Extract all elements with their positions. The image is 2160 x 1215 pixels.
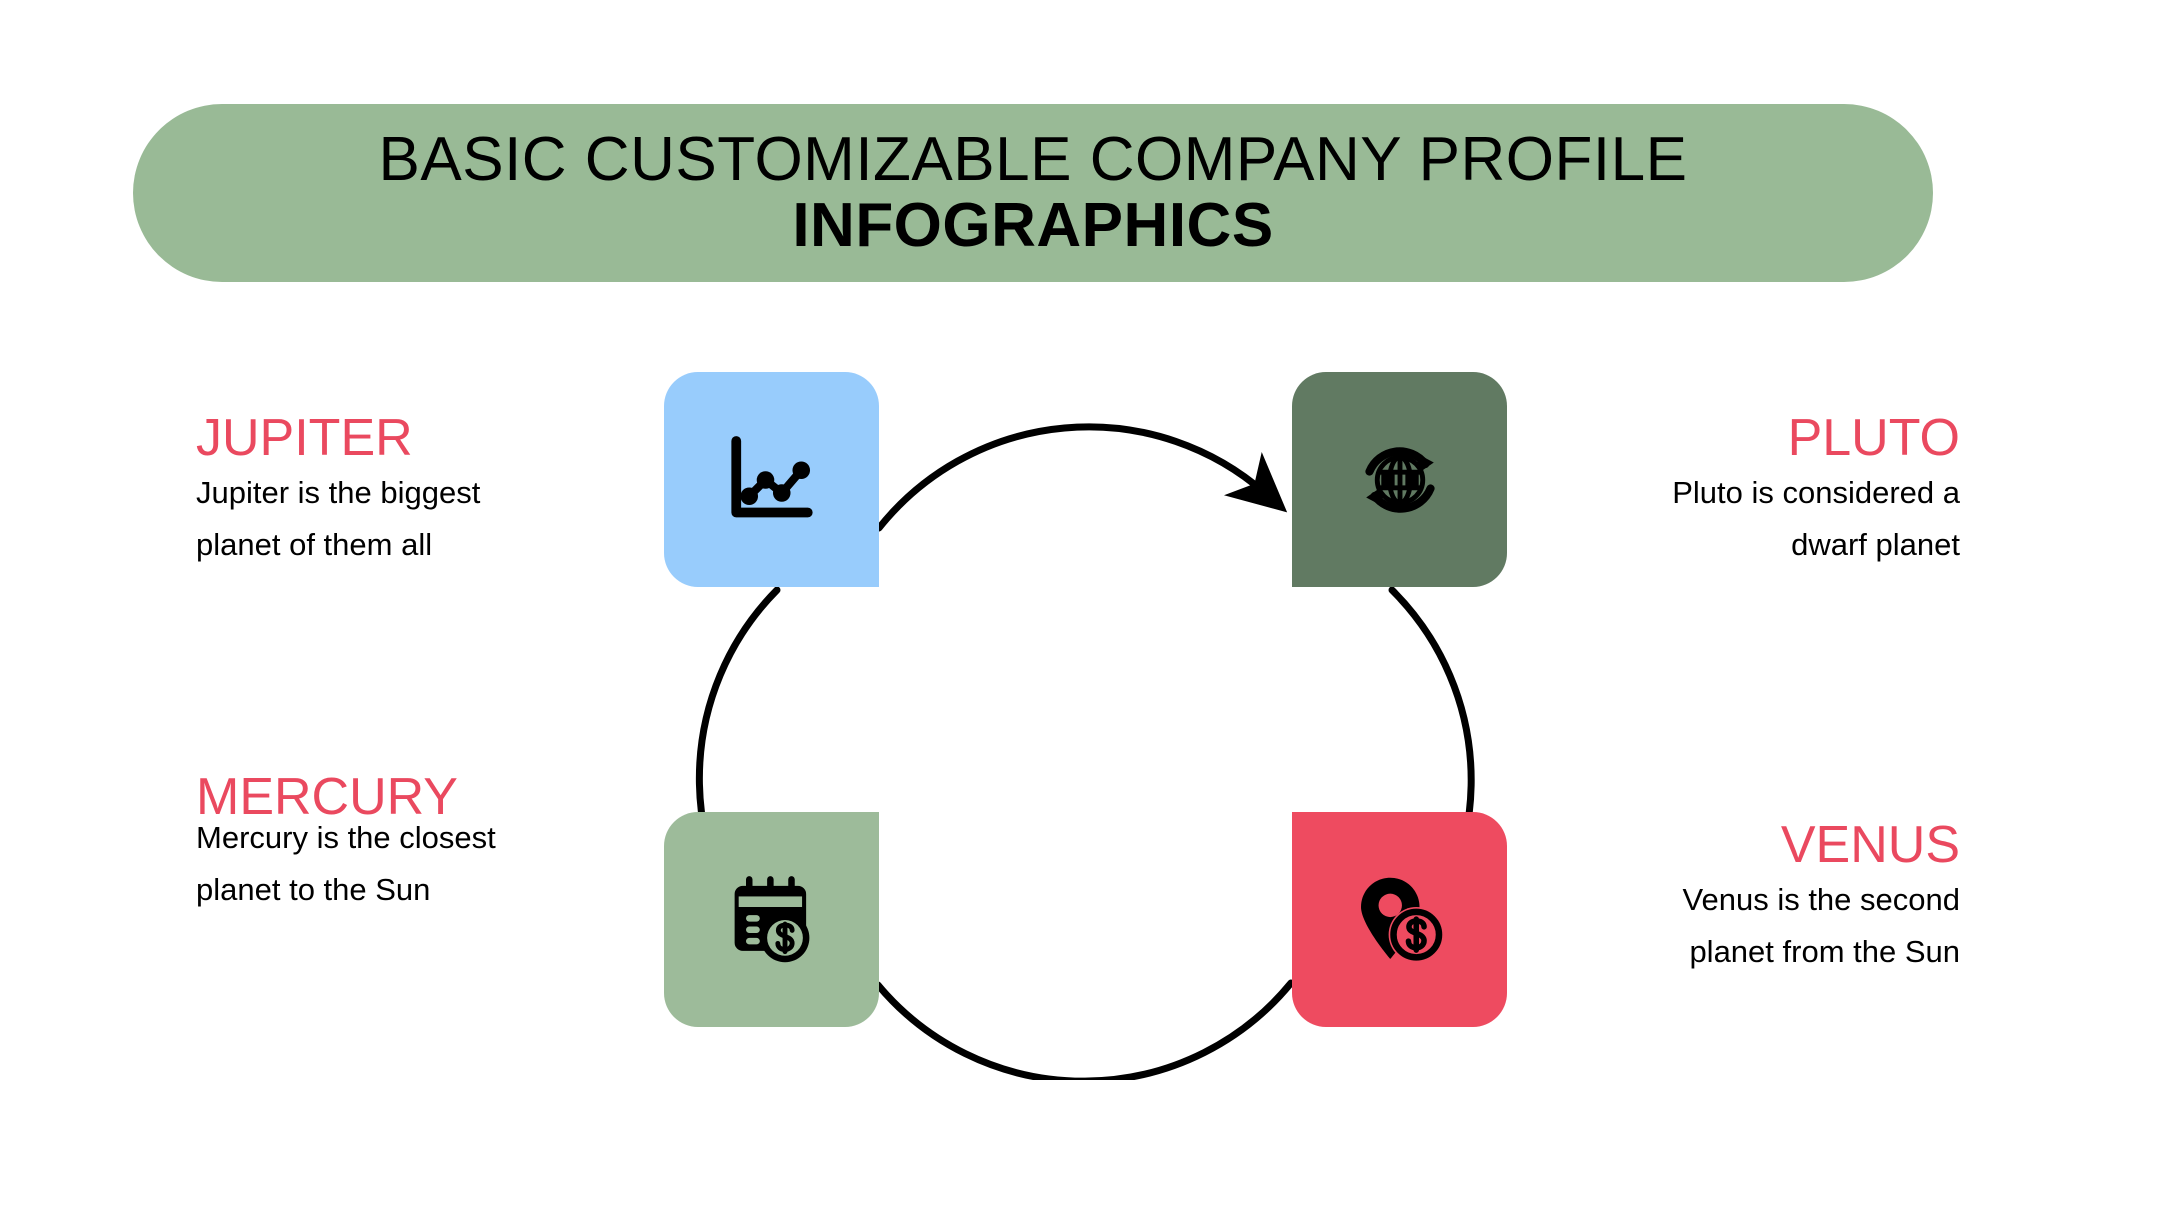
map-pin-dollar-icon (1348, 868, 1452, 972)
info-block-pluto: PLUTO Pluto is considered a dwarf planet (1640, 409, 1960, 571)
header-title-line2: INFOGRAPHICS (792, 193, 1273, 259)
arc-bottom (878, 983, 1291, 1080)
info-block-jupiter: JUPITER Jupiter is the biggest planet of… (196, 409, 516, 571)
info-block-mercury: MERCURY Mercury is the closest planet to… (196, 768, 516, 916)
header-title-line1: BASIC CUSTOMIZABLE COMPANY PROFILE (379, 127, 1688, 193)
info-block-title-venus: VENUS (1640, 816, 1960, 874)
cycle-tile-mercury[interactable] (664, 812, 879, 1027)
calendar-dollar-icon (720, 868, 824, 972)
cycle-diagram (640, 400, 1540, 1080)
globe-sync-icon (1348, 428, 1452, 532)
cycle-tile-pluto[interactable] (1292, 372, 1507, 587)
info-block-body-venus: Venus is the second planet from the Sun (1640, 874, 1960, 978)
cycle-tile-venus[interactable] (1292, 812, 1507, 1027)
info-block-venus: VENUS Venus is the second planet from th… (1640, 816, 1960, 978)
header-banner: BASIC CUSTOMIZABLE COMPANY PROFILE INFOG… (133, 104, 1933, 282)
arc-top-arrow (879, 427, 1265, 528)
info-block-body-pluto: Pluto is considered a dwarf planet (1640, 467, 1960, 571)
slide-canvas: BASIC CUSTOMIZABLE COMPANY PROFILE INFOG… (0, 0, 2160, 1215)
info-block-body-jupiter: Jupiter is the biggest planet of them al… (196, 467, 516, 571)
line-chart-icon (720, 428, 824, 532)
info-block-title-pluto: PLUTO (1640, 409, 1960, 467)
info-block-body-mercury: Mercury is the closest planet to the Sun (196, 812, 516, 916)
info-block-title-jupiter: JUPITER (196, 409, 516, 467)
cycle-tile-jupiter[interactable] (664, 372, 879, 587)
